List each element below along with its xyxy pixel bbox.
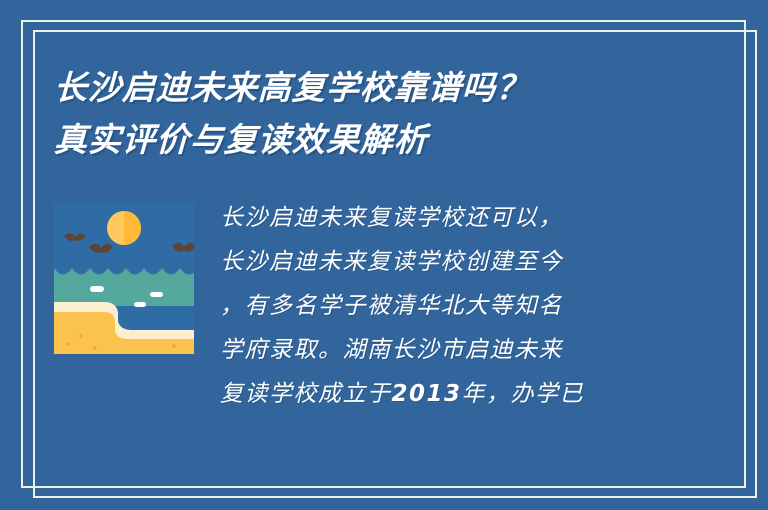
article-line-1: 长沙启迪未来复读学校还可以， (220, 196, 732, 240)
headline-block: 长沙启迪未来高复学校靠谱吗？ 真实评价与复读效果解析 (54, 62, 694, 166)
content-area: 长沙启迪未来复读学校还可以， 长沙启迪未来复读学校创建至今 ，有多名学子被清华北… (54, 196, 732, 476)
article-line-5-suffix: 年，办学已 (462, 381, 585, 407)
poster-canvas: 长沙启迪未来高复学校靠谱吗？ 真实评价与复读效果解析 (0, 0, 768, 510)
article-line-5: 复读学校成立于2013年，办学已 (220, 372, 732, 416)
article-line-2: 长沙启迪未来复读学校创建至今 (220, 240, 732, 284)
founding-year: 2013 (392, 381, 462, 407)
article-line-4: 学府录取。湖南长沙市启迪未来 (220, 328, 732, 372)
article-line-3: ，有多名学子被清华北大等知名 (220, 284, 732, 328)
article-text: 长沙启迪未来复读学校还可以， 长沙启迪未来复读学校创建至今 ，有多名学子被清华北… (220, 196, 732, 458)
article-line-5-prefix: 复读学校成立于 (220, 381, 392, 407)
headline-line-1: 长沙启迪未来高复学校靠谱吗？ (53, 62, 695, 114)
headline-line-2: 真实评价与复读效果解析 (53, 114, 695, 166)
beach-sunset-illustration (54, 202, 194, 354)
